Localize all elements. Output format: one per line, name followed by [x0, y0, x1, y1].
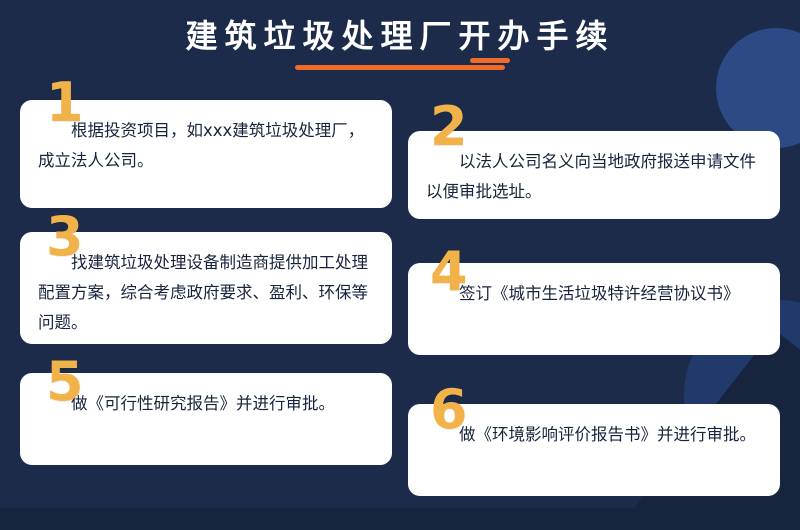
- step-text-1: 根据投资项目，如xxx建筑垃圾处理厂，成立法人公司。: [38, 116, 374, 176]
- step-text-2: 以法人公司名义向当地政府报送申请文件以便审批选址。: [426, 147, 762, 207]
- step-text-5: 做《可行性研究报告》并进行审批。: [38, 389, 374, 419]
- step-number-1: 1: [46, 76, 84, 130]
- page-title: 建筑垃圾处理厂开办手续: [0, 14, 800, 58]
- infographic-poster: 建筑垃圾处理厂开办手续 1 根据投资项目，如xxx建筑垃圾处理厂，成立法人公司。…: [0, 0, 800, 530]
- step-text-3: 找建筑垃圾处理设备制造商提供加工处理配置方案，综合考虑政府要求、盈利、环保等问题…: [38, 248, 374, 338]
- step-number-5: 5: [46, 355, 84, 409]
- step-number-3: 3: [46, 210, 84, 264]
- step-number-6: 6: [430, 383, 468, 437]
- step-number-2: 2: [430, 100, 468, 154]
- step-text-6: 做《环境影响评价报告书》并进行审批。: [426, 420, 762, 450]
- step-text-4: 签订《城市生活垃圾特许经营协议书》: [426, 279, 762, 309]
- poster-header: 建筑垃圾处理厂开办手续: [0, 14, 800, 70]
- title-underline: [295, 65, 505, 70]
- decorative-bottom-bar: [0, 508, 800, 530]
- step-number-4: 4: [430, 245, 468, 299]
- title-underline-accent: [470, 58, 510, 63]
